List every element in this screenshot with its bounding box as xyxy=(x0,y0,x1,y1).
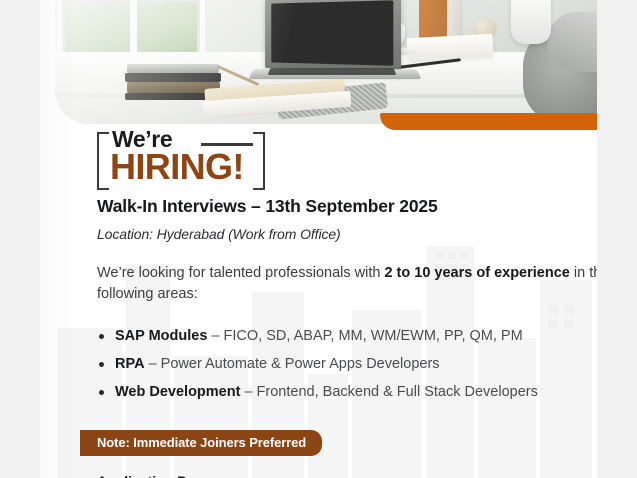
role-name: Web Development xyxy=(115,384,240,400)
role-detail: – Frontend, Backend & Full Stack Develop… xyxy=(240,384,537,400)
header-photo-container xyxy=(55,0,597,124)
logo-hiring-text: HIRING! xyxy=(110,149,244,185)
intro-highlight: 2 to 10 years of experience xyxy=(384,265,569,281)
role-name: SAP Modules xyxy=(115,328,207,344)
hiring-flyer: We’re HIRING! Walk-In Interviews – 13th … xyxy=(0,0,637,478)
status-badge: Note: Immediate Joiners Preferred xyxy=(80,430,322,456)
application-process-heading: Application Process: xyxy=(97,473,597,478)
page-title: Walk-In Interviews – 13th September 2025 xyxy=(97,196,597,217)
flyer-content: Walk-In Interviews – 13th September 2025… xyxy=(97,196,597,478)
bracket-right-icon xyxy=(253,132,265,190)
list-item: RPA – Power Automate & Power Apps Develo… xyxy=(97,355,597,374)
role-detail: – FICO, SD, ABAP, MM, WM/EWM, PP, QM, PM xyxy=(207,328,522,344)
location-subtitle: Location: Hyderabad (Work from Office) xyxy=(97,226,597,242)
list-item: SAP Modules – FICO, SD, ABAP, MM, WM/EWM… xyxy=(97,327,597,346)
bracket-left-icon xyxy=(97,132,109,190)
orange-accent-band xyxy=(380,113,597,130)
were-hiring-logo: We’re HIRING! xyxy=(97,128,265,190)
intro-before: We’re looking for talented professionals… xyxy=(97,265,384,281)
workspace-desk-photo xyxy=(55,0,597,124)
flyer-sheet: We’re HIRING! Walk-In Interviews – 13th … xyxy=(40,0,597,478)
role-detail: – Power Automate & Power Apps Developers xyxy=(145,356,440,372)
role-list: SAP Modules – FICO, SD, ABAP, MM, WM/EWM… xyxy=(97,327,597,402)
role-name: RPA xyxy=(115,356,145,372)
list-item: Web Development – Frontend, Backend & Fu… xyxy=(97,383,597,402)
intro-paragraph: We’re looking for talented professionals… xyxy=(97,263,597,305)
